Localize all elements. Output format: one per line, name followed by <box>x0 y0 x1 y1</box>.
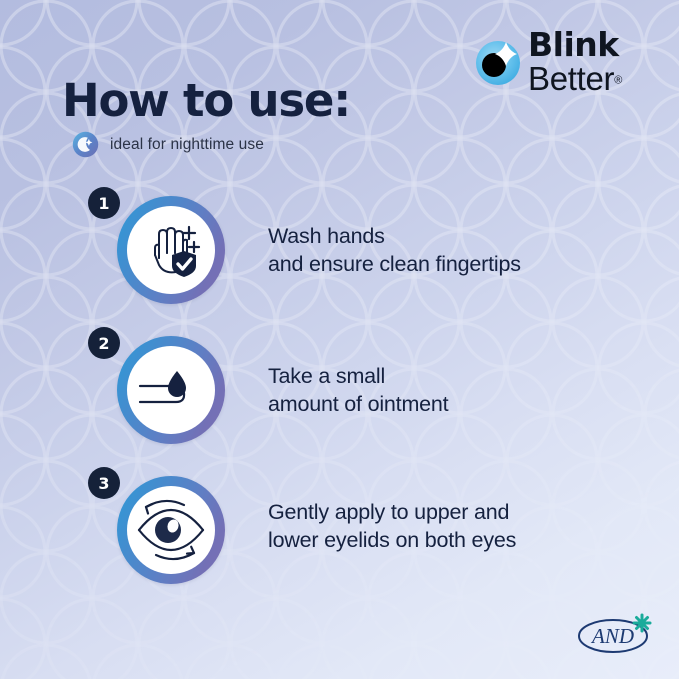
hand-sparkle-shield-icon <box>136 215 206 285</box>
step-number-badge: 2 <box>88 327 120 359</box>
blink-eye-icon <box>470 34 526 90</box>
moon-star-icon <box>72 131 99 158</box>
brand-wordmark: Blink Better® <box>528 28 648 103</box>
page-title: How to use: <box>62 74 350 127</box>
brand-logo: Blink Better® <box>470 28 645 100</box>
step-icon-circle <box>117 476 225 584</box>
finger-ointment-drop-icon <box>136 355 206 425</box>
registered-mark: ® <box>614 75 622 87</box>
and-star-icon <box>634 615 650 631</box>
step-description: Take a small amount of ointment <box>268 362 448 418</box>
step-icon-circle <box>117 196 225 304</box>
subtitle-row: ideal for nighttime use <box>72 131 264 158</box>
step-item: 3 Gently apply to upper and lower eyelid… <box>0 476 679 616</box>
step-item: 1 Wash hands and ensure clean fingertips <box>0 196 679 336</box>
and-logo: AND <box>575 609 657 657</box>
steps-list: 1 Wash hands and ensure clean fingertips <box>0 196 679 616</box>
step-icon-circle <box>117 336 225 444</box>
subtitle-text: ideal for nighttime use <box>110 136 264 154</box>
brand-name-line1: Blink <box>528 28 648 62</box>
step-description: Gently apply to upper and lower eyelids … <box>268 498 516 554</box>
how-to-use-poster: Blink Better® How to use: ideal for nigh… <box>0 0 679 679</box>
brand-name-line2: Better <box>528 60 614 97</box>
eye-rotate-arrows-icon <box>134 493 208 567</box>
step-number-badge: 1 <box>88 187 120 219</box>
and-logo-text: AND <box>590 624 634 648</box>
step-item: 2 Take a small amount of ointment <box>0 336 679 476</box>
step-number-badge: 3 <box>88 467 120 499</box>
step-description: Wash hands and ensure clean fingertips <box>268 222 521 278</box>
